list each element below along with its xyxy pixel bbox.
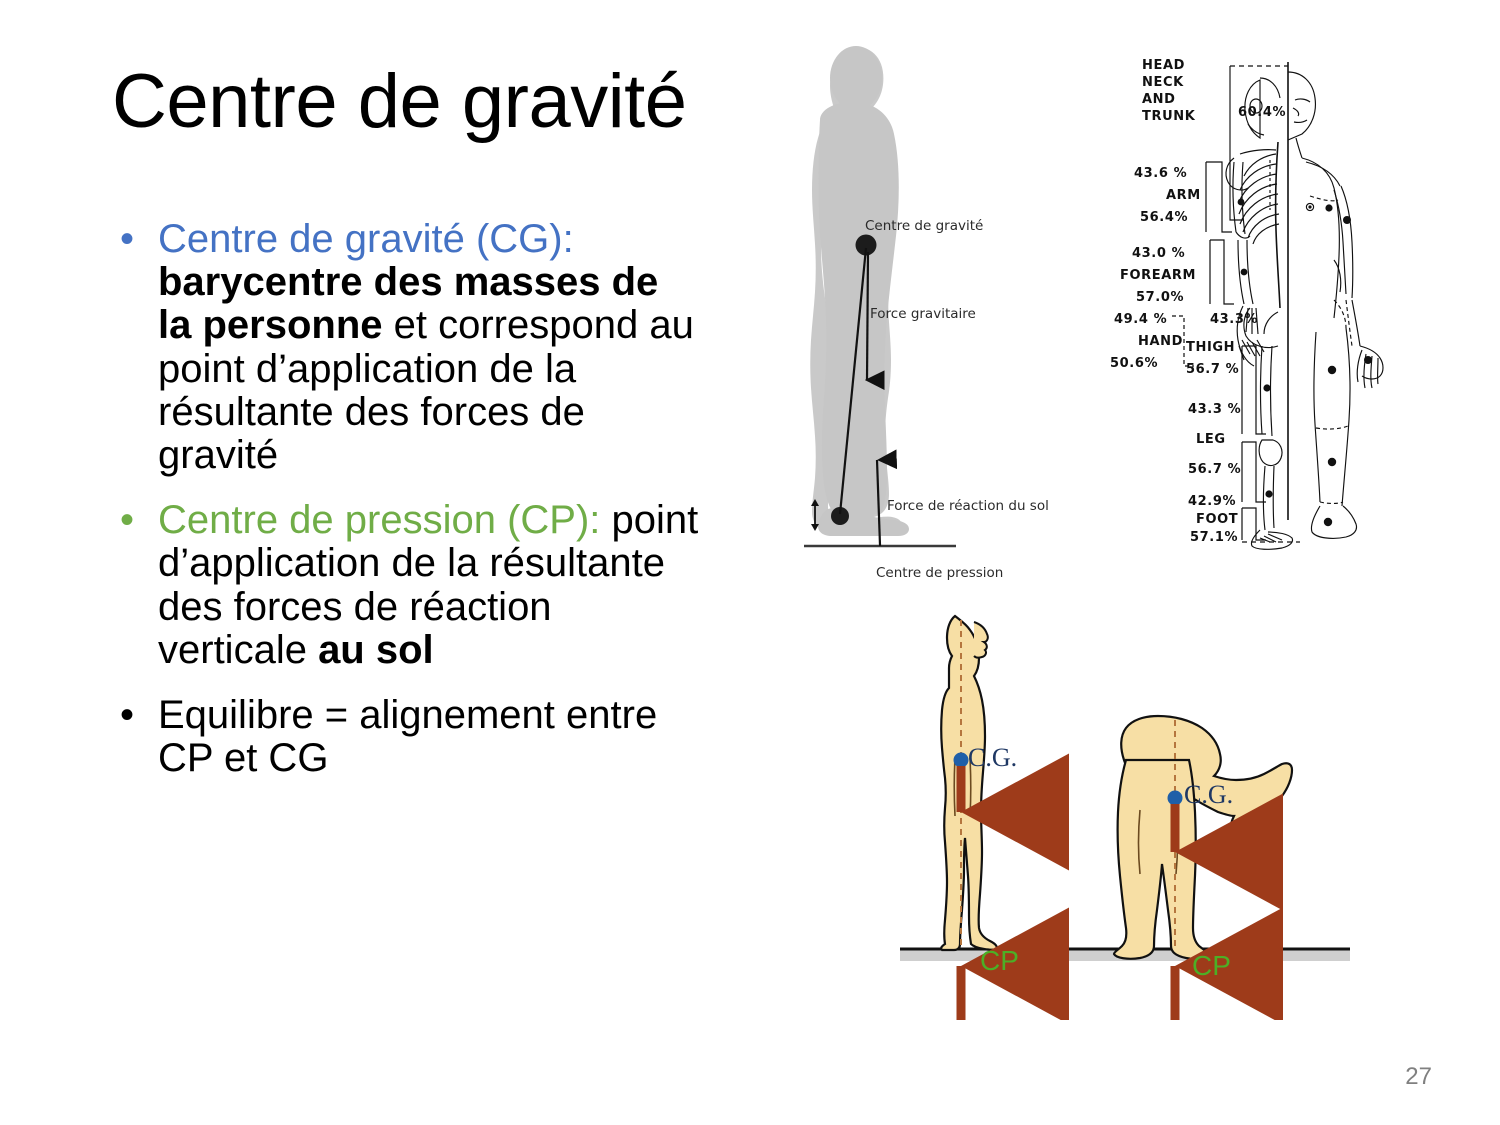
fibula-bone bbox=[1273, 466, 1274, 528]
nipple-marker bbox=[1325, 204, 1332, 211]
bullet-marker: • bbox=[120, 694, 134, 737]
hand-right-outline bbox=[1357, 346, 1383, 388]
label-force-reaction-du-sol: Force de réaction du sol bbox=[887, 498, 1049, 514]
leg-cg-dot bbox=[1265, 490, 1272, 497]
elbow-joint bbox=[1236, 232, 1250, 238]
leg-right-cg-dot bbox=[1328, 458, 1336, 466]
figure-postures: C.G. CP C.G. CP bbox=[900, 580, 1350, 1020]
bullet-marker: • bbox=[120, 499, 134, 542]
silhouette-svg bbox=[790, 40, 1100, 570]
bending-cg-label: C.G. bbox=[1184, 780, 1233, 810]
bracket-hand bbox=[1172, 316, 1194, 366]
label-centre-de-pression: Centre de pression bbox=[876, 565, 1003, 581]
bullet-text-equilibre: Equilibre = alignement entre CP et CG bbox=[158, 693, 657, 780]
bracket-forearm bbox=[1210, 240, 1234, 304]
bullet-lead-cp: Centre de pression (CP): bbox=[158, 498, 600, 542]
figure-silhouette: Centre de gravité Force gravitaire Force… bbox=[790, 40, 1100, 570]
standing-face-profile bbox=[974, 622, 988, 658]
knee-line bbox=[1316, 426, 1348, 429]
bullet-item-equilibre: • Equilibre = alignement entre CP et CG bbox=[112, 694, 702, 780]
bracket-foot bbox=[1242, 508, 1266, 540]
standing-cg-point bbox=[954, 753, 969, 768]
bullet-bold-cp: au sol bbox=[318, 628, 434, 672]
ulna-bone bbox=[1247, 240, 1253, 304]
postures-svg bbox=[900, 580, 1350, 1020]
hand-bones bbox=[1237, 306, 1264, 366]
face-feature-nose bbox=[1293, 108, 1299, 116]
neck-right bbox=[1296, 138, 1302, 158]
label-force-gravitaire: Force gravitaire bbox=[870, 306, 976, 322]
leg-shape bbox=[828, 370, 878, 530]
head-shape bbox=[830, 46, 882, 110]
thigh-right-cg-dot bbox=[1328, 366, 1336, 374]
ankle-offset-arrow-bottom bbox=[811, 524, 819, 531]
page-title: Centre de gravité bbox=[112, 62, 752, 142]
figure-anatomy: HEAD NECK AND TRUNK 60.4% 43.6 % ARM 56.… bbox=[1110, 50, 1420, 540]
bracket-arm bbox=[1206, 162, 1232, 232]
thigh-cg-dot bbox=[1263, 384, 1270, 391]
bullet-lead-cg: Centre de gravité (CG): bbox=[158, 217, 574, 261]
foot-right-cg-dot bbox=[1324, 518, 1332, 526]
leg-right-inner bbox=[1314, 332, 1320, 502]
gravity-force-arrow bbox=[867, 252, 868, 380]
tibia-bone bbox=[1264, 466, 1266, 530]
hand-right-cg-dot bbox=[1364, 356, 1372, 364]
bullet-marker: • bbox=[120, 218, 134, 261]
label-centre-de-gravite: Centre de gravité bbox=[865, 218, 983, 234]
skull-top bbox=[1260, 78, 1280, 98]
bullet-item-cg: • Centre de gravité (CG): barycentre des… bbox=[112, 218, 702, 477]
face-feature-brow bbox=[1295, 99, 1310, 102]
torso-right-outline bbox=[1302, 158, 1339, 318]
patella bbox=[1259, 440, 1282, 465]
bending-cp-label: CP bbox=[1192, 950, 1231, 982]
arm-right-inner bbox=[1334, 190, 1346, 294]
humerus-bone bbox=[1233, 162, 1236, 232]
face-feature-mouth bbox=[1294, 120, 1307, 122]
pectoral-line bbox=[1310, 196, 1338, 201]
pelvis-outline bbox=[1244, 308, 1278, 348]
standing-inner-leg-line bbox=[954, 758, 955, 816]
arm-right-cg-dot bbox=[1343, 216, 1351, 224]
forearm-cg-dot bbox=[1241, 269, 1248, 276]
forearm-right bbox=[1352, 300, 1360, 346]
bracket-leg bbox=[1242, 442, 1266, 502]
head-profile bbox=[1288, 72, 1315, 140]
bullet-list: • Centre de gravité (CG): barycentre des… bbox=[112, 218, 702, 802]
standing-body-outline bbox=[941, 616, 997, 950]
page-number: 27 bbox=[1405, 1063, 1432, 1091]
clavicle bbox=[1240, 150, 1276, 154]
jaw-line bbox=[1248, 124, 1264, 135]
bending-cg-point bbox=[1168, 791, 1183, 806]
shoulder-right bbox=[1306, 162, 1340, 186]
arm-cg-dot bbox=[1238, 199, 1245, 206]
bullet-item-cp: • Centre de pression (CP): point d’appli… bbox=[112, 499, 702, 672]
standing-cg-label: C.G. bbox=[968, 743, 1017, 773]
foot-right-outline bbox=[1311, 506, 1356, 538]
standing-cp-label: CP bbox=[980, 945, 1019, 977]
humerus-bone-2 bbox=[1242, 162, 1245, 234]
ankle-line bbox=[1320, 502, 1343, 504]
femur-bone-2 bbox=[1271, 346, 1273, 436]
slide-canvas: Centre de gravité • Centre de gravité (C… bbox=[0, 0, 1500, 1125]
leg-right-outline bbox=[1342, 328, 1350, 506]
anatomy-line-drawing bbox=[1110, 50, 1420, 550]
femur-bone bbox=[1261, 346, 1263, 434]
